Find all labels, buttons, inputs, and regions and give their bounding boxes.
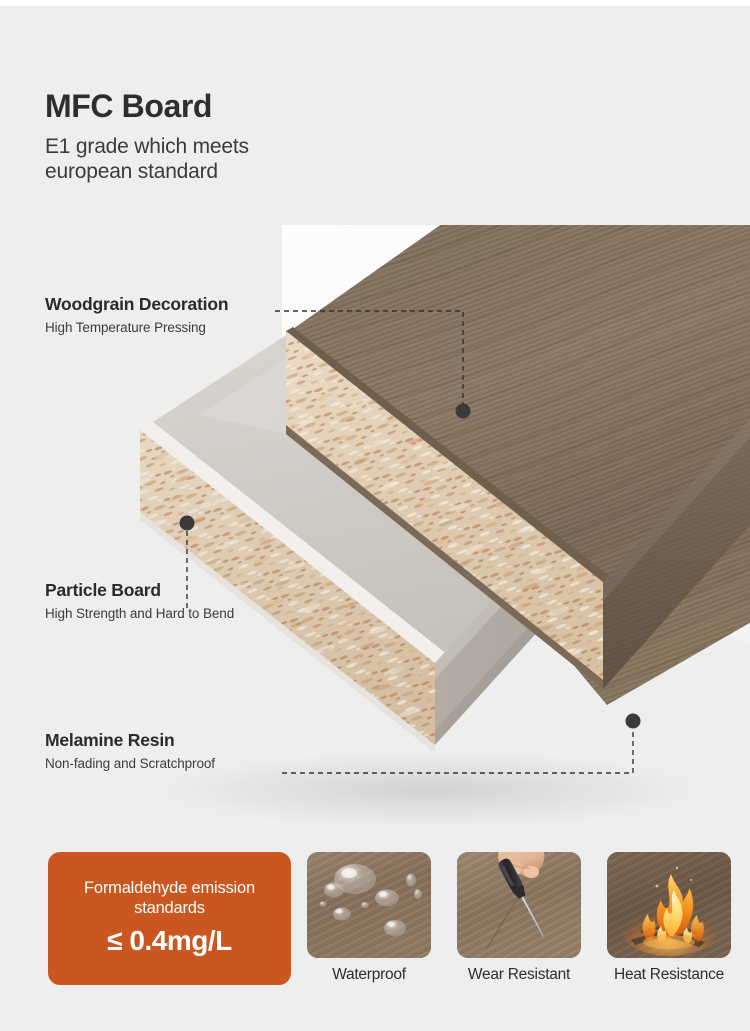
callout-melamine-resin: Melamine Resin Non-fading and Scratchpro… [45, 730, 215, 772]
page-subtitle-line-1: E1 grade which meets [45, 135, 249, 160]
callout-woodgrain-title: Woodgrain Decoration [45, 294, 228, 315]
product-infographic-page: MFC Board E1 grade which meets european … [0, 0, 750, 1031]
feature-label-waterproof: Waterproof [332, 966, 406, 984]
ground-shadow [130, 748, 730, 825]
callout-woodgrain-subtitle: High Temperature Pressing [45, 320, 228, 336]
formaldehyde-badge: Formaldehyde emission standards ≤ 0.4mg/… [48, 852, 291, 985]
feature-tile-waterproof: Waterproof [305, 852, 433, 992]
feature-tile-wear-resistant: Wear Resistant [455, 852, 583, 992]
marker-dot-melamine [626, 714, 641, 729]
feature-label-heat-resistance: Heat Resistance [614, 966, 724, 984]
page-title: MFC Board [45, 88, 249, 125]
feature-tiles: Waterproof [305, 852, 735, 992]
header-block: MFC Board E1 grade which meets european … [45, 88, 249, 184]
marker-dot-particle [180, 516, 195, 531]
water-droplets-icon [307, 852, 431, 958]
feature-tile-heat-resistance: Heat Resistance [605, 852, 733, 992]
page-subtitle-line-2: european standard [45, 160, 249, 185]
callout-melamine-subtitle: Non-fading and Scratchproof [45, 756, 215, 772]
hand-scriber-icon [457, 852, 581, 958]
callout-particle-board: Particle Board High Strength and Hard to… [45, 580, 234, 622]
callout-particle-subtitle: High Strength and Hard to Bend [45, 606, 234, 622]
callout-woodgrain-decoration: Woodgrain Decoration High Temperature Pr… [45, 294, 228, 336]
marker-dot-woodgrain [456, 404, 471, 419]
flame-icon [607, 852, 731, 958]
callout-melamine-title: Melamine Resin [45, 730, 215, 751]
formaldehyde-badge-caption: Formaldehyde emission standards [58, 878, 281, 918]
feature-strip: Formaldehyde emission standards ≤ 0.4mg/… [0, 852, 750, 992]
page-subtitle: E1 grade which meets european standard [45, 135, 249, 185]
top-white-strip [0, 0, 750, 6]
formaldehyde-badge-value: ≤ 0.4mg/L [107, 927, 231, 955]
feature-label-wear-resistant: Wear Resistant [468, 966, 570, 984]
callout-particle-title: Particle Board [45, 580, 234, 601]
